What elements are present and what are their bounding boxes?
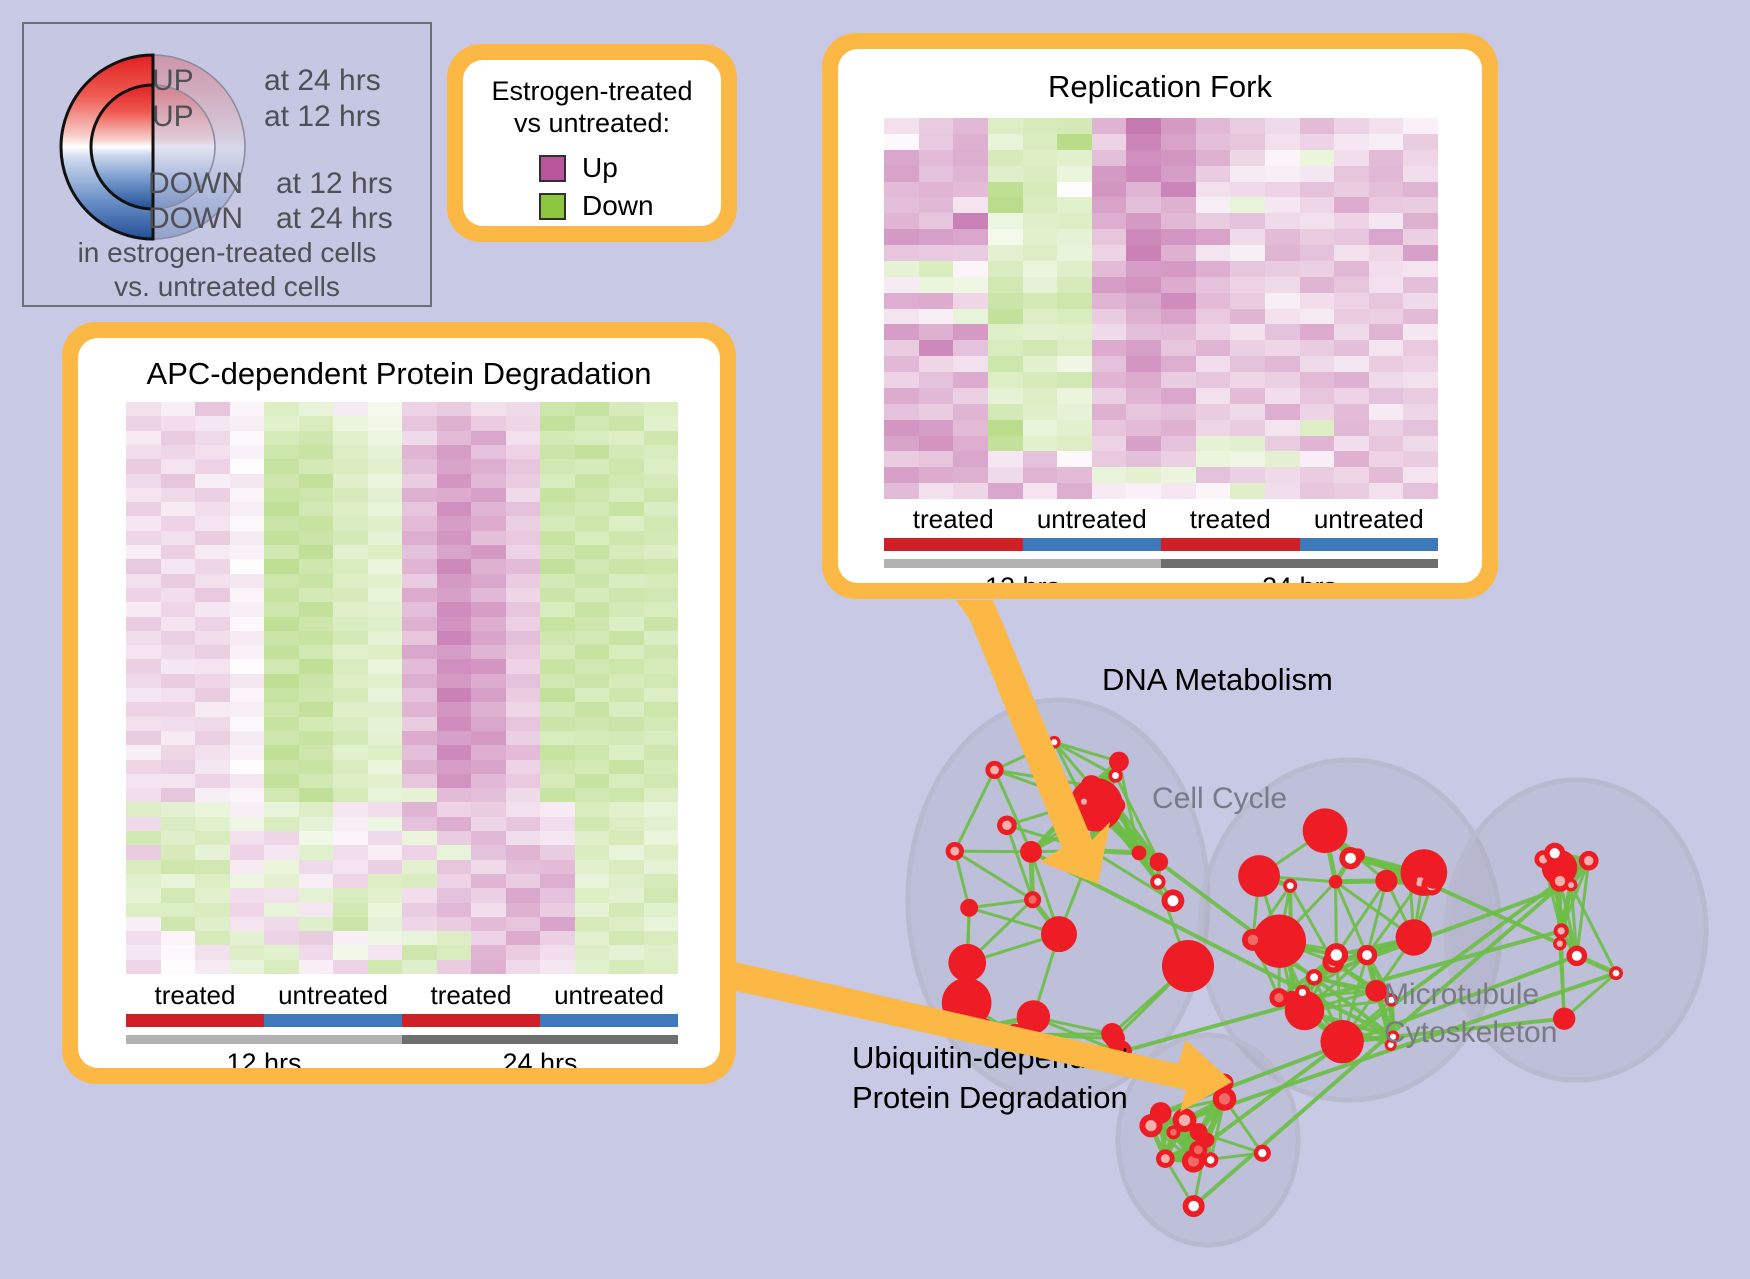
network-node[interactable] (1109, 752, 1129, 772)
heatmap-cell (575, 431, 610, 445)
heatmap-cell (609, 674, 644, 688)
heatmap-cell (1230, 309, 1265, 325)
heatmap-cell (1196, 388, 1231, 404)
network-edge (955, 851, 1031, 852)
axis-time-bar (402, 1035, 678, 1044)
heatmap-cell (1196, 213, 1231, 229)
heatmap-cell (1196, 150, 1231, 166)
heatmap-cell (333, 674, 368, 688)
heatmap-cell (988, 436, 1023, 452)
heatmap-cell (471, 860, 506, 874)
network-node[interactable] (1544, 843, 1565, 864)
heatmap-cell (126, 831, 161, 845)
axis-time-bar (884, 559, 1161, 568)
network-node[interactable] (1553, 937, 1566, 950)
heatmap-cell (1334, 166, 1369, 182)
network-node[interactable] (1357, 945, 1377, 965)
heatmap-cell (299, 874, 334, 888)
heatmap-cell (609, 645, 644, 659)
heatmap-cell (230, 574, 265, 588)
network-node[interactable] (1567, 946, 1588, 967)
network-node[interactable] (1150, 1102, 1172, 1124)
heatmap-cell (1403, 420, 1438, 436)
heatmap-cell (126, 617, 161, 631)
network-node[interactable] (960, 899, 978, 917)
heatmap-cell (299, 731, 334, 745)
heatmap-cell (919, 213, 954, 229)
network-node[interactable] (1375, 870, 1397, 892)
heatmap-cell (1300, 436, 1335, 452)
heatmap-cell (264, 588, 299, 602)
heatmap-cell (1092, 483, 1127, 499)
heatmap-cell (644, 645, 679, 659)
heatmap-cell (195, 945, 230, 959)
heatmap-cell (1057, 467, 1092, 483)
heatmap-cell (1230, 261, 1265, 277)
heatmap-cell (402, 860, 437, 874)
heatmap-cell (1230, 324, 1265, 340)
heatmap-cell (919, 356, 954, 372)
heatmap-cell (609, 760, 644, 774)
heatmap-cell (264, 488, 299, 502)
heatmap-cell (402, 903, 437, 917)
heatmap-cell (1300, 372, 1335, 388)
network-node[interactable] (1183, 1195, 1205, 1217)
heatmap-cell (368, 802, 403, 816)
heatmap-cell (953, 277, 988, 293)
heatmap-cell (506, 774, 541, 788)
heatmap-cell (471, 488, 506, 502)
heatmap-cell (1265, 229, 1300, 245)
axis-group-label: untreated (278, 980, 388, 1011)
network-node[interactable] (1396, 919, 1432, 955)
heatmap-cell (506, 945, 541, 959)
rf-group-colorbar (884, 538, 1438, 551)
heatmap-cell (368, 502, 403, 516)
network-node[interactable] (1238, 855, 1280, 897)
network-node[interactable] (1020, 841, 1042, 863)
heatmap-cell (575, 945, 610, 959)
heatmap-cell (471, 431, 506, 445)
heatmap-cell (333, 888, 368, 902)
heatmap-cell (471, 945, 506, 959)
network-node[interactable] (1085, 844, 1098, 857)
heatmap-cell (1196, 118, 1231, 134)
heatmap-cell (471, 631, 506, 645)
heatmap-cell (1369, 309, 1404, 325)
heatmap-cell (161, 674, 196, 688)
heatmap-cell (1403, 293, 1438, 309)
heatmap-cell (230, 802, 265, 816)
heatmap-cell (368, 688, 403, 702)
heatmap-cell (1300, 118, 1335, 134)
heatmap-cell (333, 459, 368, 473)
heatmap-cell (437, 631, 472, 645)
heatmap-cell (333, 602, 368, 616)
network-node[interactable] (985, 761, 1003, 779)
heatmap-cell (230, 474, 265, 488)
heatmap-cell (609, 659, 644, 673)
heatmap-cell (1057, 166, 1092, 182)
heatmap-cell (264, 531, 299, 545)
network-node[interactable] (1132, 846, 1147, 861)
heatmap-cell (1126, 245, 1161, 261)
heatmap-cell (299, 802, 334, 816)
heatmap-cell (506, 745, 541, 759)
heatmap-cell (126, 702, 161, 716)
heatmap-cell (609, 588, 644, 602)
heatmap-cell (953, 372, 988, 388)
heatmap-cell (471, 931, 506, 945)
heatmap-cell (126, 745, 161, 759)
heatmap-cell (1161, 166, 1196, 182)
heatmap-cell (299, 817, 334, 831)
heatmap-cell (1334, 309, 1369, 325)
heatmap-cell (402, 602, 437, 616)
network-node[interactable] (1109, 797, 1125, 813)
heatmap-cell (988, 356, 1023, 372)
network-node[interactable] (975, 1018, 993, 1036)
heatmap-cell (644, 488, 679, 502)
heatmap-cell (230, 588, 265, 602)
heatmap-cell (299, 745, 334, 759)
heatmap-cell (1300, 182, 1335, 198)
heatmap-cell (1023, 150, 1058, 166)
heatmap-cell (264, 860, 299, 874)
heatmap-cell (644, 559, 679, 573)
heatmap-cell (1126, 182, 1161, 198)
heatmap-cell (644, 917, 679, 931)
heatmap-cell (575, 702, 610, 716)
heatmap-cell (1230, 467, 1265, 483)
heatmap-cell (644, 502, 679, 516)
network-node[interactable] (1041, 916, 1077, 952)
heatmap-cell (368, 559, 403, 573)
heatmap-cell (402, 617, 437, 631)
network-node[interactable] (1320, 1020, 1363, 1063)
axis-time-label: 24 hrs (1262, 572, 1337, 583)
heatmap-cell (1092, 467, 1127, 483)
network-node[interactable] (1403, 873, 1417, 887)
heatmap-cell (161, 588, 196, 602)
heatmap-cell (540, 817, 575, 831)
heatmap-cell (161, 874, 196, 888)
heatmap-cell (264, 602, 299, 616)
heatmap-cell (1369, 118, 1404, 134)
network-node[interactable] (1150, 874, 1165, 889)
heatmap-cell (540, 874, 575, 888)
heatmap-cell (1161, 324, 1196, 340)
heatmap-cell (919, 197, 954, 213)
heatmap-cell (333, 445, 368, 459)
heatmap-cell (264, 617, 299, 631)
heatmap-cell (1092, 324, 1127, 340)
heatmap-cell (644, 702, 679, 716)
heatmap-cell (644, 731, 679, 745)
heatmap-cell (575, 845, 610, 859)
heatmap-cell (264, 645, 299, 659)
heatmap-cell (299, 659, 334, 673)
heatmap-cell (1334, 293, 1369, 309)
heatmap-cell (575, 602, 610, 616)
heatmap-cell (1196, 166, 1231, 182)
heatmap-cell (161, 402, 196, 416)
heatmap-cell (919, 436, 954, 452)
heatmap-cell (299, 559, 334, 573)
axis-time-label: 12 hrs (226, 1048, 301, 1068)
network-node[interactable] (1579, 851, 1599, 871)
heatmap-cell (264, 688, 299, 702)
network-node[interactable] (1565, 879, 1578, 892)
network-node[interactable] (1078, 795, 1091, 808)
network-node[interactable] (1156, 1149, 1175, 1168)
heatmap-cell (988, 388, 1023, 404)
heatmap-cell (1126, 436, 1161, 452)
heatmap-cell (230, 960, 265, 974)
heatmap-cell (333, 659, 368, 673)
heatmap-cell (1196, 420, 1231, 436)
heatmap-cell (230, 617, 265, 631)
heatmap-cell (609, 831, 644, 845)
heatmap-cell (1057, 150, 1092, 166)
network-node[interactable] (997, 815, 1017, 835)
heatmap-cell (230, 688, 265, 702)
heatmap-cell (1230, 150, 1265, 166)
heatmap-cell (540, 445, 575, 459)
apc-time-labels: 12 hrs24 hrs (126, 1048, 678, 1068)
network-node[interactable] (1162, 940, 1214, 992)
heatmap-cell (644, 602, 679, 616)
heatmap-cell (540, 760, 575, 774)
network-node[interactable] (1254, 1145, 1271, 1162)
heatmap-cell (953, 261, 988, 277)
network-node[interactable] (1081, 775, 1102, 796)
key-footer: in estrogen-treated cells vs. untreated … (24, 236, 430, 304)
heatmap-cell (1334, 261, 1369, 277)
heatmap-cell (437, 774, 472, 788)
network-node[interactable] (1329, 875, 1343, 889)
heatmap-cell (506, 802, 541, 816)
heatmap-cell (437, 717, 472, 731)
heatmap-cell (1092, 340, 1127, 356)
heatmap-cell (126, 588, 161, 602)
heatmap-cell (264, 574, 299, 588)
heatmap-cell (1126, 324, 1161, 340)
heatmap-cell (230, 645, 265, 659)
network-node[interactable] (1150, 853, 1169, 872)
heatmap-cell (1369, 420, 1404, 436)
heatmap-cell (437, 917, 472, 931)
heatmap-cell (506, 459, 541, 473)
heatmap-cell (368, 874, 403, 888)
network-node[interactable] (1048, 736, 1061, 749)
axis-group-label: untreated (1314, 504, 1424, 535)
heatmap-cell (644, 545, 679, 559)
network-node[interactable] (1306, 969, 1322, 985)
heatmap-cell (540, 960, 575, 974)
network-node[interactable] (1609, 966, 1623, 980)
heatmap-cell (540, 645, 575, 659)
heatmap-cell (368, 831, 403, 845)
heatmap-cell (126, 760, 161, 774)
heatmap-cell (1403, 309, 1438, 325)
heatmap-cell (471, 445, 506, 459)
heatmap-cell (333, 402, 368, 416)
network-node[interactable] (1162, 889, 1185, 912)
network-node[interactable] (1189, 1141, 1207, 1159)
heatmap-cell (575, 631, 610, 645)
heatmap-cell (609, 931, 644, 945)
heatmap-cell (368, 659, 403, 673)
network-node[interactable] (1295, 985, 1310, 1000)
heatmap-cell (230, 445, 265, 459)
network-node[interactable] (946, 842, 964, 860)
heatmap-cell (299, 574, 334, 588)
heatmap-cell (506, 645, 541, 659)
heatmap-cell (299, 888, 334, 902)
network-node[interactable] (1242, 929, 1264, 951)
heatmap-cell (884, 182, 919, 198)
heatmap-cell (540, 945, 575, 959)
heatmap-cell (1369, 451, 1404, 467)
heatmap-cell (506, 474, 541, 488)
heatmap-cell (1230, 340, 1265, 356)
network-node[interactable] (948, 944, 986, 982)
key-footer-line1: in estrogen-treated cells (24, 236, 430, 270)
heatmap-cell (437, 459, 472, 473)
heatmap-cell (333, 874, 368, 888)
heatmap-cell (471, 888, 506, 902)
heatmap-cell (161, 917, 196, 931)
heatmap-cell (540, 917, 575, 931)
legend-label-up: Up (582, 152, 618, 184)
network-node[interactable] (1283, 879, 1297, 893)
heatmap-cell (230, 488, 265, 502)
heatmap-cell (884, 388, 919, 404)
heatmap-cell (195, 931, 230, 945)
network-node[interactable] (1024, 891, 1041, 908)
heatmap-cell (919, 134, 954, 150)
heatmap-cell (1161, 483, 1196, 499)
heatmap-cell (437, 731, 472, 745)
heatmap-cell (264, 788, 299, 802)
heatmap-cell (264, 659, 299, 673)
heatmap-cell (126, 545, 161, 559)
heatmap-cell (1161, 134, 1196, 150)
heatmap-cell (230, 945, 265, 959)
heatmap-cell (919, 245, 954, 261)
axis-group-label: treated (431, 980, 512, 1011)
heatmap-cell (126, 416, 161, 430)
heatmap-cell (402, 502, 437, 516)
heatmap-cell (402, 945, 437, 959)
network-node[interactable] (1554, 923, 1569, 938)
heatmap-cell (333, 617, 368, 631)
network-node[interactable] (1339, 847, 1361, 869)
heatmap-cell (368, 402, 403, 416)
network-node[interactable] (1173, 1108, 1197, 1132)
heatmap-cell (402, 888, 437, 902)
network-node[interactable] (1303, 808, 1348, 853)
heatmap-cell (644, 459, 679, 473)
heatmap-cell (368, 631, 403, 645)
heatmap-cell (1403, 118, 1438, 134)
heatmap-cell (540, 502, 575, 516)
heatmap-cell (264, 903, 299, 917)
heatmap-cell (1023, 356, 1058, 372)
heatmap-cell (1300, 420, 1335, 436)
heatmap-cell (1300, 309, 1335, 325)
heatmap-cell (540, 931, 575, 945)
heatmap-cell (161, 960, 196, 974)
heatmap-cell (402, 645, 437, 659)
heatmap-cell (1126, 197, 1161, 213)
heatmap-cell (540, 559, 575, 573)
heatmap-cell (402, 402, 437, 416)
heatmap-cell (402, 802, 437, 816)
heatmap-cell (126, 531, 161, 545)
heatmap-cell (988, 372, 1023, 388)
heatmap-cell (299, 531, 334, 545)
heatmap-cell (506, 416, 541, 430)
heatmap-cell (1092, 197, 1127, 213)
heatmap-cell (1369, 324, 1404, 340)
heatmap-cell (540, 774, 575, 788)
heatmap-cell (126, 402, 161, 416)
heatmap-cell (540, 745, 575, 759)
heatmap-cell (333, 903, 368, 917)
network-node[interactable] (1108, 768, 1122, 782)
heatmap-cell (299, 674, 334, 688)
network-node[interactable] (1425, 872, 1442, 889)
heatmap-cell (264, 717, 299, 731)
heatmap-cell (1023, 483, 1058, 499)
heatmap-cell (299, 945, 334, 959)
network-node[interactable] (1213, 1087, 1237, 1111)
network-node[interactable] (1325, 943, 1349, 967)
heatmap-cell (1057, 404, 1092, 420)
heatmap-cell (575, 474, 610, 488)
heatmap-cell (884, 229, 919, 245)
heatmap-cell (1126, 483, 1161, 499)
heatmap-cell (1023, 293, 1058, 309)
heatmap-cell (161, 903, 196, 917)
heatmap-cell (402, 416, 437, 430)
heatmap-cell (264, 931, 299, 945)
heatmap-cell (1334, 245, 1369, 261)
heatmap-cell (1403, 245, 1438, 261)
heatmap-cell (988, 213, 1023, 229)
heatmap-cell (471, 917, 506, 931)
heatmap-cell (1265, 245, 1300, 261)
heatmap-cell (609, 402, 644, 416)
heatmap-cell (1126, 150, 1161, 166)
heatmap-cell (1196, 245, 1231, 261)
heatmap-cell (884, 356, 919, 372)
heatmap-cell (609, 888, 644, 902)
heatmap-cell (1092, 372, 1127, 388)
heatmap-cell (333, 788, 368, 802)
heatmap-cell (1126, 261, 1161, 277)
heatmap-cell (644, 717, 679, 731)
heatmap-cell (195, 802, 230, 816)
heatmap-cell (230, 845, 265, 859)
apc-group-colorbar (126, 1014, 678, 1027)
heatmap-cell (1196, 229, 1231, 245)
heatmap-cell (1057, 436, 1092, 452)
heatmap-cell (161, 931, 196, 945)
heatmap-cell (575, 445, 610, 459)
